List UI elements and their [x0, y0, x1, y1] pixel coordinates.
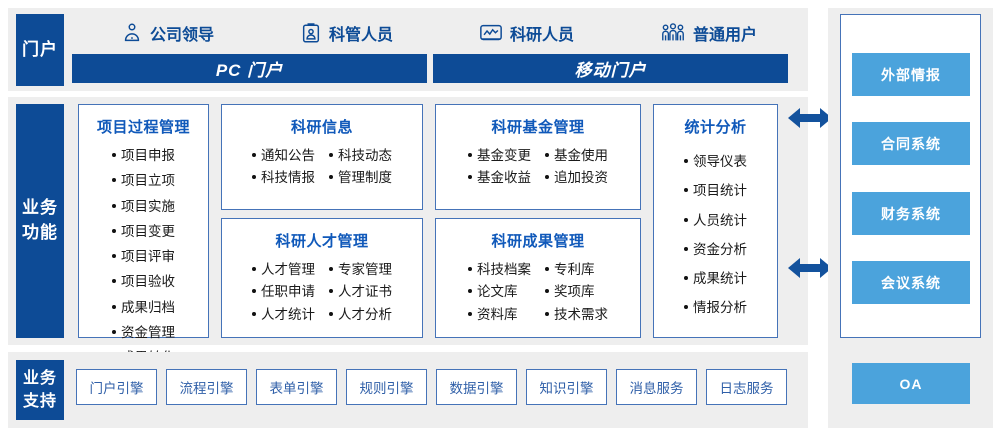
engine-0-label: 门户引擎 [90, 377, 144, 397]
function-card-project-process-items: 项目申报 项目立项 项目实施 项目变更 项目评审 项目验收 成果归档 资金管理 … [112, 146, 175, 368]
portal-bar-pc[interactable]: PC 门户 [72, 54, 427, 83]
engine-7-label: 日志服务 [720, 377, 774, 397]
list-item-label: 资金管理 [121, 323, 175, 343]
external-system-2[interactable]: 财务系统 [852, 192, 970, 235]
list-item[interactable]: 人才分析 [329, 305, 392, 325]
bullet-icon [112, 279, 116, 283]
list-item-label: 项目统计 [693, 181, 747, 201]
list-item-label: 人才证书 [338, 282, 392, 302]
bullet-icon [468, 289, 472, 293]
portal-role-3[interactable]: 普通用户 [660, 21, 757, 45]
list-item-label: 领导仪表 [693, 152, 747, 172]
bullet-icon [468, 267, 472, 271]
bullet-icon [684, 188, 688, 192]
portal-role-1-label: 科管人员 [329, 21, 393, 45]
engine-6-label: 消息服务 [630, 377, 684, 397]
portal-bar-pc-label: PC 门户 [216, 56, 283, 81]
bullet-icon [112, 178, 116, 182]
function-card-research-info[interactable]: 科研信息 通知公告 科技动态 科技情报 管理制度 [221, 104, 423, 210]
portal-bar-mobile[interactable]: 移动门户 [433, 54, 788, 83]
integration-arrow-top [788, 105, 832, 131]
bullet-icon [252, 175, 256, 179]
layer-label-portal-text: 门户 [22, 38, 58, 63]
list-item-label: 通知公告 [261, 146, 315, 166]
bullet-icon [112, 330, 116, 334]
bullet-icon [112, 305, 116, 309]
external-system-3-label: 会议系统 [881, 273, 941, 293]
list-item[interactable]: 人才管理 [252, 260, 315, 280]
portal-role-2-label: 科研人员 [510, 21, 574, 45]
function-card-statistics-items: 领导仪表 项目统计 人员统计 资金分析 成果统计 情报分析 [684, 152, 747, 319]
list-item-label: 基金变更 [477, 146, 531, 166]
function-card-research-talent[interactable]: 科研人才管理 人才管理 专家管理 任职申请 人才证书 人才统计 人才分析 [221, 218, 423, 338]
external-system-3[interactable]: 会议系统 [852, 261, 970, 304]
list-item-label: 人员统计 [693, 211, 747, 231]
list-item[interactable]: 人员统计 [684, 211, 747, 231]
list-item[interactable]: 通知公告 [252, 146, 315, 166]
list-item-label: 资料库 [477, 305, 518, 325]
list-item-label: 论文库 [477, 282, 518, 302]
list-item[interactable]: 情报分析 [684, 298, 747, 318]
engine-4-label: 数据引擎 [450, 377, 504, 397]
bullet-icon [468, 175, 472, 179]
bullet-icon [545, 289, 549, 293]
external-system-0[interactable]: 外部情报 [852, 53, 970, 96]
list-item[interactable]: 项目验收 [112, 272, 175, 292]
layer-label-business-function-text: 业务功能 [16, 196, 64, 245]
engine-1-label: 流程引擎 [180, 377, 234, 397]
list-item-label: 人才分析 [338, 305, 392, 325]
list-item[interactable]: 技术需求 [545, 305, 608, 325]
external-system-oa-label: OA [900, 376, 923, 392]
bullet-icon [545, 175, 549, 179]
list-item-label: 人才管理 [261, 260, 315, 280]
list-item-label: 情报分析 [693, 298, 747, 318]
layer-label-portal: 门户 [16, 14, 64, 86]
engine-3[interactable]: 规则引擎 [346, 369, 427, 405]
list-item-label: 追加投资 [554, 168, 608, 188]
bullet-icon [329, 267, 333, 271]
bullet-icon [329, 289, 333, 293]
list-item[interactable]: 项目申报 [112, 146, 175, 166]
function-card-research-info-items: 通知公告 科技动态 科技情报 管理制度 [252, 146, 392, 189]
bullet-icon [545, 267, 549, 271]
layer-label-business-function: 业务功能 [16, 104, 64, 338]
bullet-icon [252, 289, 256, 293]
list-item[interactable]: 项目实施 [112, 197, 175, 217]
list-item-label: 成果统计 [693, 269, 747, 289]
bullet-icon [684, 305, 688, 309]
function-card-statistics[interactable]: 统计分析 领导仪表 项目统计 人员统计 资金分析 成果统计 情报分析 [653, 104, 778, 338]
list-item[interactable]: 追加投资 [545, 168, 608, 188]
list-item-label: 科技情报 [261, 168, 315, 188]
bullet-icon [329, 312, 333, 316]
portal-bar-mobile-label: 移动门户 [575, 56, 647, 81]
bullet-icon [329, 175, 333, 179]
bullet-icon [329, 153, 333, 157]
function-card-research-fund[interactable]: 科研基金管理 基金变更 基金使用 基金收益 追加投资 [435, 104, 641, 210]
external-system-1[interactable]: 合同系统 [852, 122, 970, 165]
bullet-icon [545, 153, 549, 157]
list-item-label: 管理制度 [338, 168, 392, 188]
bullet-icon [252, 267, 256, 271]
list-item[interactable]: 资料库 [468, 305, 531, 325]
list-item[interactable]: 人才证书 [329, 282, 392, 302]
function-card-research-achievement[interactable]: 科研成果管理 科技档案 专利库 论文库 奖项库 资料库 技术需求 [435, 218, 641, 338]
function-card-project-process-title: 项目过程管理 [97, 116, 190, 137]
function-card-research-info-title: 科研信息 [291, 116, 353, 137]
list-item[interactable]: 项目变更 [112, 222, 175, 242]
list-item-label: 项目评审 [121, 247, 175, 267]
bullet-icon [252, 153, 256, 157]
engine-7[interactable]: 日志服务 [706, 369, 787, 405]
list-item[interactable]: 管理制度 [329, 168, 392, 188]
layer-label-business-support-text: 业务支持 [22, 367, 57, 413]
list-item[interactable]: 奖项库 [545, 282, 608, 302]
external-system-oa[interactable]: OA [852, 363, 970, 404]
function-card-research-talent-items: 人才管理 专家管理 任职申请 人才证书 人才统计 人才分析 [252, 260, 392, 325]
list-item[interactable]: 领导仪表 [684, 152, 747, 172]
bullet-icon [684, 218, 688, 222]
list-item-label: 项目变更 [121, 222, 175, 242]
user-tie-icon [121, 22, 143, 44]
list-item[interactable]: 成果归档 [112, 298, 175, 318]
list-item-label: 专家管理 [338, 260, 392, 280]
list-item-label: 专利库 [554, 260, 595, 280]
bullet-icon [112, 153, 116, 157]
function-card-research-achievement-title: 科研成果管理 [491, 230, 584, 251]
bullet-icon [684, 276, 688, 280]
list-item-label: 人才统计 [261, 305, 315, 325]
list-item-label: 资金分析 [693, 240, 747, 260]
bullet-icon [684, 247, 688, 251]
bullet-icon [252, 312, 256, 316]
list-item[interactable]: 资金分析 [684, 240, 747, 260]
engine-1[interactable]: 流程引擎 [166, 369, 247, 405]
list-item-label: 基金收益 [477, 168, 531, 188]
list-item-label: 技术需求 [554, 305, 608, 325]
portal-role-2[interactable]: 科研人员 [479, 21, 574, 45]
bullet-icon [112, 254, 116, 258]
portal-role-0-label: 公司领导 [150, 21, 214, 45]
list-item[interactable]: 基金变更 [468, 146, 531, 166]
list-item-label: 任职申请 [261, 282, 315, 302]
chart-monitor-icon [479, 22, 503, 44]
list-item[interactable]: 专家管理 [329, 260, 392, 280]
external-system-1-label: 合同系统 [881, 134, 941, 154]
portal-role-row: 公司领导 科管人员 科研人员 [78, 16, 800, 50]
engine-2-label: 表单引擎 [270, 377, 324, 397]
list-item[interactable]: 成果统计 [684, 269, 747, 289]
external-system-2-label: 财务系统 [881, 204, 941, 224]
portal-role-3-label: 普通用户 [693, 21, 757, 45]
list-item-label: 基金使用 [554, 146, 608, 166]
engine-4[interactable]: 数据引擎 [436, 369, 517, 405]
function-card-research-fund-title: 科研基金管理 [491, 116, 584, 137]
list-item[interactable]: 任职申请 [252, 282, 315, 302]
user-group-icon [660, 22, 686, 44]
list-item-label: 项目验收 [121, 272, 175, 292]
list-item[interactable]: 项目立项 [112, 171, 175, 191]
list-item[interactable]: 科技档案 [468, 260, 531, 280]
list-item[interactable]: 专利库 [545, 260, 608, 280]
list-item-label: 科技动态 [338, 146, 392, 166]
list-item[interactable]: 论文库 [468, 282, 531, 302]
portal-role-1[interactable]: 科管人员 [300, 21, 393, 45]
engine-0[interactable]: 门户引擎 [76, 369, 157, 405]
bullet-icon [545, 312, 549, 316]
list-item[interactable]: 科技动态 [329, 146, 392, 166]
list-item-label: 奖项库 [554, 282, 595, 302]
bullet-icon [468, 312, 472, 316]
list-item-label: 项目申报 [121, 146, 175, 166]
bullet-icon [684, 159, 688, 163]
function-card-statistics-title: 统计分析 [684, 116, 746, 137]
list-item[interactable]: 资金管理 [112, 323, 175, 343]
list-item[interactable]: 基金使用 [545, 146, 608, 166]
list-item-label: 项目立项 [121, 171, 175, 191]
list-item-label: 科技档案 [477, 260, 531, 280]
list-item[interactable]: 项目评审 [112, 247, 175, 267]
portal-role-0[interactable]: 公司领导 [121, 21, 214, 45]
function-card-research-talent-title: 科研人才管理 [275, 230, 368, 251]
engine-3-label: 规则引擎 [360, 377, 414, 397]
function-card-research-achievement-items: 科技档案 专利库 论文库 奖项库 资料库 技术需求 [468, 260, 608, 325]
architecture-diagram: 门户 公司领导 科管人员 [0, 0, 1000, 436]
function-card-research-fund-items: 基金变更 基金使用 基金收益 追加投资 [468, 146, 608, 189]
engine-5-label: 知识引擎 [540, 377, 594, 397]
engine-5[interactable]: 知识引擎 [526, 369, 607, 405]
external-system-0-label: 外部情报 [881, 65, 941, 85]
list-item[interactable]: 科技情报 [252, 168, 315, 188]
bullet-icon [468, 153, 472, 157]
list-item[interactable]: 基金收益 [468, 168, 531, 188]
bullet-icon [112, 229, 116, 233]
function-card-project-process[interactable]: 项目过程管理 项目申报 项目立项 项目实施 项目变更 项目评审 项目验收 成果归… [78, 104, 209, 338]
engine-6[interactable]: 消息服务 [616, 369, 697, 405]
list-item-label: 项目实施 [121, 197, 175, 217]
list-item[interactable]: 项目统计 [684, 181, 747, 201]
list-item-label: 成果归档 [121, 298, 175, 318]
integration-arrow-bottom [788, 255, 832, 281]
layer-label-business-support: 业务支持 [16, 360, 64, 420]
list-item[interactable]: 人才统计 [252, 305, 315, 325]
bullet-icon [112, 204, 116, 208]
engine-2[interactable]: 表单引擎 [256, 369, 337, 405]
id-badge-icon [300, 22, 322, 44]
